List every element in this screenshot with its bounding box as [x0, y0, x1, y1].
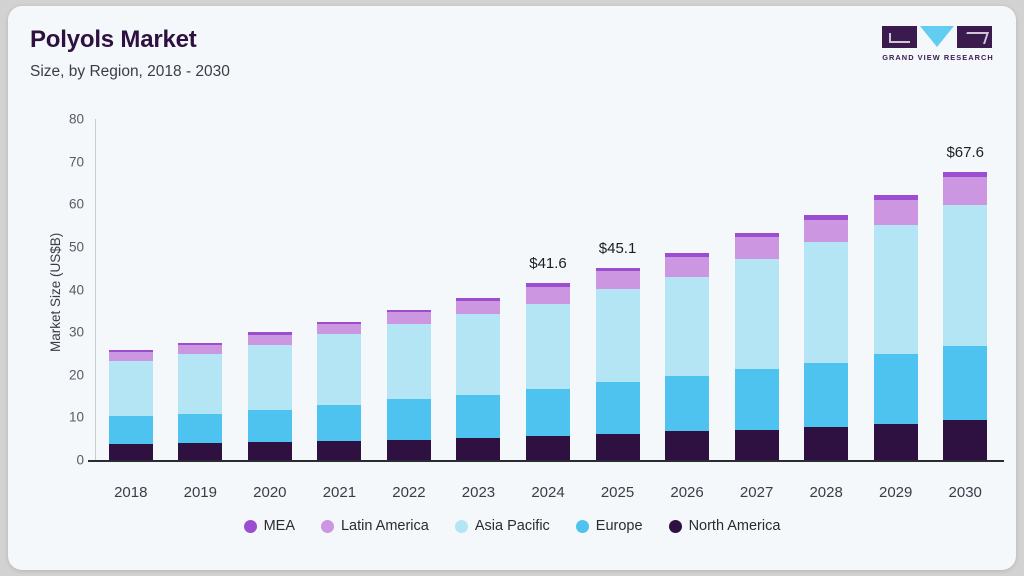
legend-item-label: Europe — [596, 518, 643, 534]
stacked-bar[interactable] — [596, 268, 640, 460]
legend-item[interactable]: Latin America — [321, 518, 429, 534]
stacked-bar[interactable] — [109, 350, 153, 460]
bar-chart-plot: 01020304050607080Market Size (US$B)20182… — [8, 6, 1016, 570]
x-axis-line — [88, 460, 1004, 462]
bar-segment-asia-pacific[interactable] — [735, 259, 779, 369]
stacked-bar[interactable] — [248, 332, 292, 460]
bar-segment-latin-america[interactable] — [387, 312, 431, 324]
y-axis-tick-label: 70 — [50, 154, 84, 169]
bar-segment-latin-america[interactable] — [804, 220, 848, 243]
legend-item-label: Asia Pacific — [475, 518, 550, 534]
bar-segment-europe[interactable] — [109, 416, 153, 444]
x-axis-tick-label: 2018 — [114, 484, 147, 501]
y-axis-title: Market Size (US$B) — [48, 232, 63, 351]
bar-segment-latin-america[interactable] — [596, 271, 640, 289]
legend-item[interactable]: Asia Pacific — [455, 518, 550, 534]
x-axis-tick-label: 2021 — [323, 484, 356, 501]
bar-value-label: $41.6 — [529, 255, 567, 272]
bar-segment-latin-america[interactable] — [665, 257, 709, 277]
bar-segment-north-america[interactable] — [387, 440, 431, 460]
bar-segment-mea[interactable] — [387, 310, 431, 313]
bar-segment-europe[interactable] — [456, 395, 500, 438]
x-axis-tick-label: 2019 — [184, 484, 217, 501]
legend-color-swatch-icon — [455, 520, 468, 533]
bar-segment-asia-pacific[interactable] — [804, 242, 848, 363]
bar-segment-mea[interactable] — [178, 343, 222, 345]
bar-segment-north-america[interactable] — [317, 441, 361, 460]
bar-segment-asia-pacific[interactable] — [317, 334, 361, 405]
legend-item-label: North America — [689, 518, 781, 534]
bar-segment-latin-america[interactable] — [456, 301, 500, 314]
x-axis-tick-label: 2025 — [601, 484, 634, 501]
stacked-bar[interactable] — [317, 322, 361, 460]
y-axis-tick-label: 60 — [50, 197, 84, 212]
bar-segment-north-america[interactable] — [178, 443, 222, 460]
legend-item-label: MEA — [264, 518, 295, 534]
bar-segment-europe[interactable] — [178, 414, 222, 443]
stacked-bar[interactable] — [387, 310, 431, 460]
bar-segment-europe[interactable] — [526, 389, 570, 436]
bar-segment-asia-pacific[interactable] — [943, 205, 987, 347]
x-axis-tick-label: 2029 — [879, 484, 912, 501]
bar-segment-europe[interactable] — [596, 382, 640, 433]
legend-item[interactable]: MEA — [244, 518, 295, 534]
bar-segment-europe[interactable] — [248, 410, 292, 442]
bar-segment-latin-america[interactable] — [526, 287, 570, 304]
stacked-bar[interactable] — [804, 215, 848, 460]
bar-segment-north-america[interactable] — [456, 438, 500, 460]
y-axis-tick-label: 80 — [50, 112, 84, 127]
bar-segment-north-america[interactable] — [874, 424, 918, 460]
x-axis-tick-label: 2024 — [531, 484, 564, 501]
bar-segment-mea[interactable] — [109, 350, 153, 352]
bar-segment-europe[interactable] — [804, 363, 848, 427]
x-axis-tick-label: 2023 — [462, 484, 495, 501]
chart-legend: MEALatin AmericaAsia PacificEuropeNorth … — [8, 518, 1016, 534]
stacked-bar[interactable] — [943, 172, 987, 460]
x-axis-tick-label: 2026 — [670, 484, 703, 501]
y-axis-tick-label: 0 — [50, 453, 84, 468]
bar-segment-north-america[interactable] — [596, 434, 640, 460]
legend-color-swatch-icon — [321, 520, 334, 533]
bar-segment-mea[interactable] — [596, 268, 640, 271]
bar-segment-mea[interactable] — [526, 283, 570, 286]
legend-color-swatch-icon — [576, 520, 589, 533]
bar-segment-mea[interactable] — [804, 215, 848, 220]
bar-segment-asia-pacific[interactable] — [874, 225, 918, 354]
bar-segment-asia-pacific[interactable] — [526, 304, 570, 389]
bar-segment-asia-pacific[interactable] — [109, 361, 153, 416]
stacked-bar[interactable] — [665, 253, 709, 460]
legend-color-swatch-icon — [669, 520, 682, 533]
bar-segment-north-america[interactable] — [248, 442, 292, 460]
bar-segment-latin-america[interactable] — [317, 324, 361, 334]
bar-segment-north-america[interactable] — [526, 436, 570, 460]
bar-segment-asia-pacific[interactable] — [596, 289, 640, 382]
stacked-bar[interactable] — [526, 283, 570, 460]
x-axis-tick-label: 2028 — [809, 484, 842, 501]
chart-card: Polyols Market Size, by Region, 2018 - 2… — [8, 6, 1016, 570]
bar-segment-latin-america[interactable] — [109, 352, 153, 361]
legend-color-swatch-icon — [244, 520, 257, 533]
bar-segment-mea[interactable] — [665, 253, 709, 257]
x-axis-tick-label: 2020 — [253, 484, 286, 501]
bar-segment-mea[interactable] — [317, 322, 361, 325]
bar-segment-europe[interactable] — [317, 405, 361, 440]
bar-value-label: $67.6 — [946, 144, 984, 161]
bar-segment-latin-america[interactable] — [874, 200, 918, 225]
y-axis-tick-label: 10 — [50, 410, 84, 425]
bar-segment-mea[interactable] — [248, 332, 292, 335]
bar-segment-europe[interactable] — [735, 369, 779, 430]
bar-segment-europe[interactable] — [387, 399, 431, 439]
x-axis-tick-label: 2022 — [392, 484, 425, 501]
legend-item-label: Latin America — [341, 518, 429, 534]
stacked-bar[interactable] — [178, 343, 222, 460]
y-axis-line — [95, 119, 96, 460]
y-axis-tick-label: 20 — [50, 367, 84, 382]
bar-segment-europe[interactable] — [874, 354, 918, 424]
bar-segment-mea[interactable] — [943, 172, 987, 177]
bar-segment-north-america[interactable] — [109, 444, 153, 460]
bar-value-label: $45.1 — [599, 240, 637, 257]
legend-item[interactable]: Europe — [576, 518, 643, 534]
bar-segment-latin-america[interactable] — [735, 237, 779, 258]
bar-segment-mea[interactable] — [874, 195, 918, 200]
bar-segment-europe[interactable] — [943, 346, 987, 420]
bar-segment-north-america[interactable] — [804, 427, 848, 460]
bar-segment-mea[interactable] — [735, 233, 779, 237]
bar-segment-mea[interactable] — [456, 298, 500, 301]
stacked-bar[interactable] — [456, 298, 500, 460]
legend-item[interactable]: North America — [669, 518, 781, 534]
bar-segment-latin-america[interactable] — [248, 335, 292, 345]
bar-segment-north-america[interactable] — [943, 420, 987, 460]
bar-segment-asia-pacific[interactable] — [248, 345, 292, 410]
bar-segment-asia-pacific[interactable] — [178, 354, 222, 414]
bar-segment-asia-pacific[interactable] — [665, 277, 709, 377]
stacked-bar[interactable] — [735, 233, 779, 460]
bar-segment-north-america[interactable] — [665, 431, 709, 460]
x-axis-tick-label: 2030 — [949, 484, 982, 501]
stacked-bar[interactable] — [874, 195, 918, 460]
bar-segment-north-america[interactable] — [735, 430, 779, 460]
bar-segment-asia-pacific[interactable] — [387, 324, 431, 400]
bar-segment-latin-america[interactable] — [943, 177, 987, 205]
bar-segment-asia-pacific[interactable] — [456, 314, 500, 395]
x-axis-tick-label: 2027 — [740, 484, 773, 501]
bar-segment-europe[interactable] — [665, 376, 709, 431]
bar-segment-latin-america[interactable] — [178, 345, 222, 354]
